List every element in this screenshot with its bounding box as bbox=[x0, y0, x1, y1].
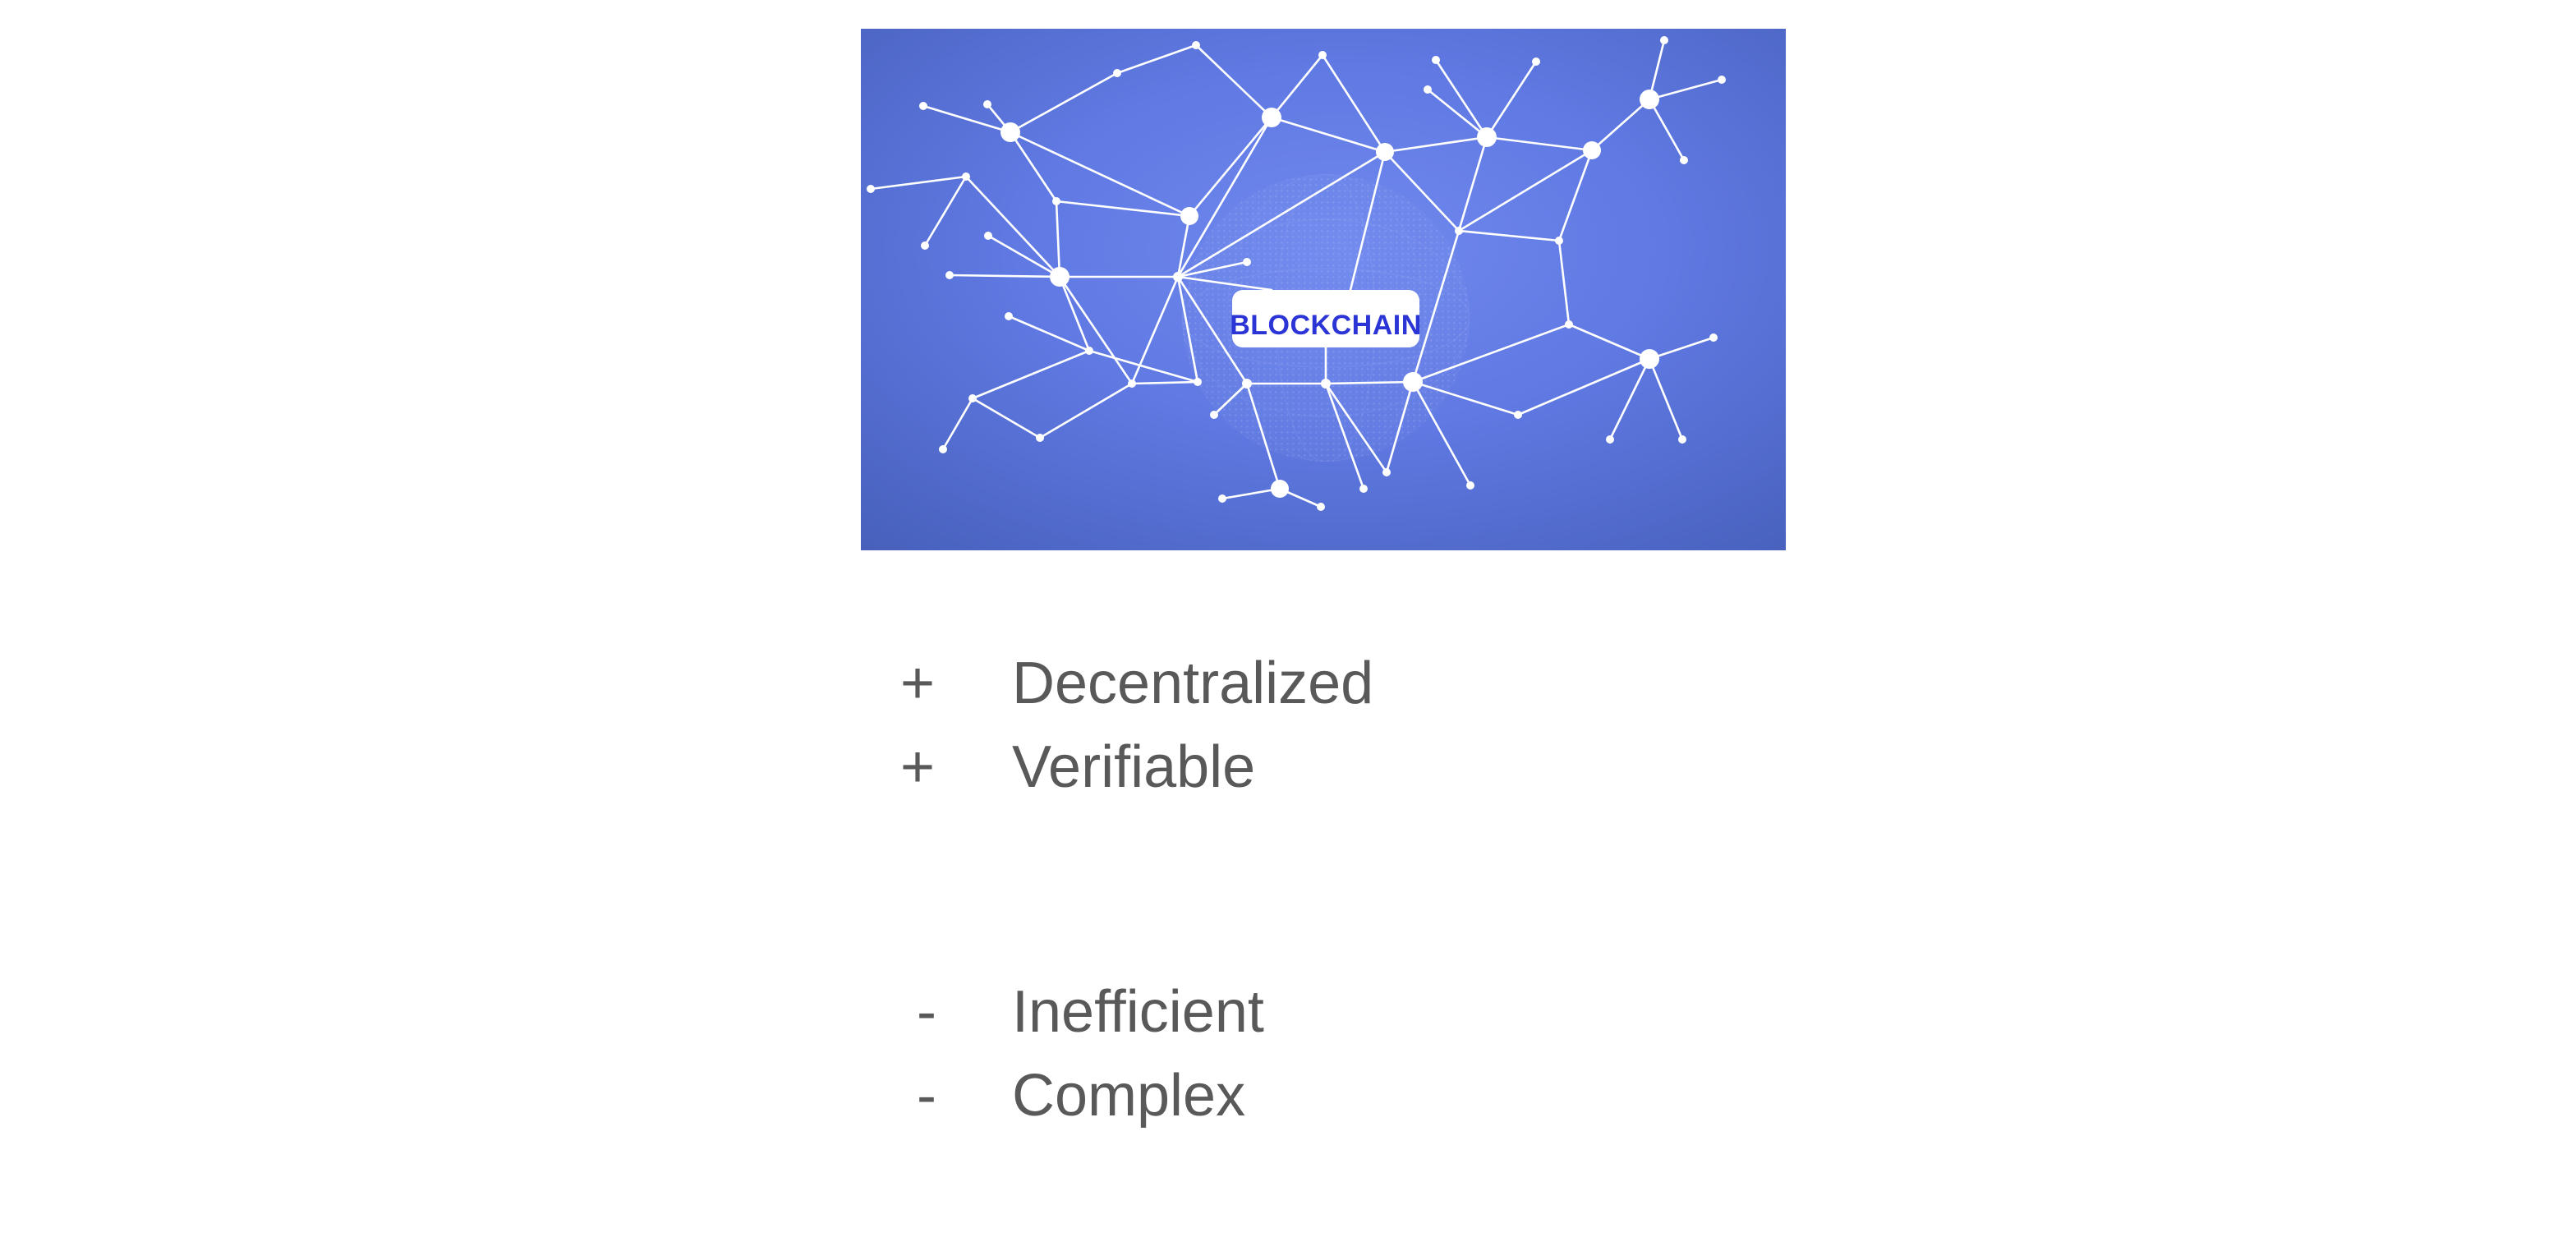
minus-icon: - bbox=[895, 982, 1012, 1042]
pros-item-label: Verifiable bbox=[1012, 738, 1255, 797]
cons-item-label: Inefficient bbox=[1012, 982, 1264, 1042]
list-item: - Complex bbox=[895, 1066, 1264, 1150]
plus-icon: + bbox=[895, 738, 1012, 797]
cons-list: - Inefficient - Complex bbox=[895, 982, 1264, 1150]
pros-item-label: Decentralized bbox=[1012, 654, 1373, 713]
blockchain-label-text: BLOCKCHAIN bbox=[1230, 310, 1422, 341]
list-item: - Inefficient bbox=[895, 982, 1264, 1066]
minus-icon: - bbox=[895, 1066, 1012, 1125]
blockchain-label: BLOCKCHAIN bbox=[1230, 290, 1422, 347]
pros-list: + Decentralized + Verifiable bbox=[895, 654, 1373, 821]
list-item: + Verifiable bbox=[895, 738, 1373, 821]
network-graph-svg: BLOCKCHAIN bbox=[861, 29, 1786, 550]
cons-item-label: Complex bbox=[1012, 1066, 1245, 1125]
plus-icon: + bbox=[895, 654, 1012, 713]
blockchain-illustration: BLOCKCHAIN bbox=[861, 29, 1786, 550]
list-item: + Decentralized bbox=[895, 654, 1373, 738]
